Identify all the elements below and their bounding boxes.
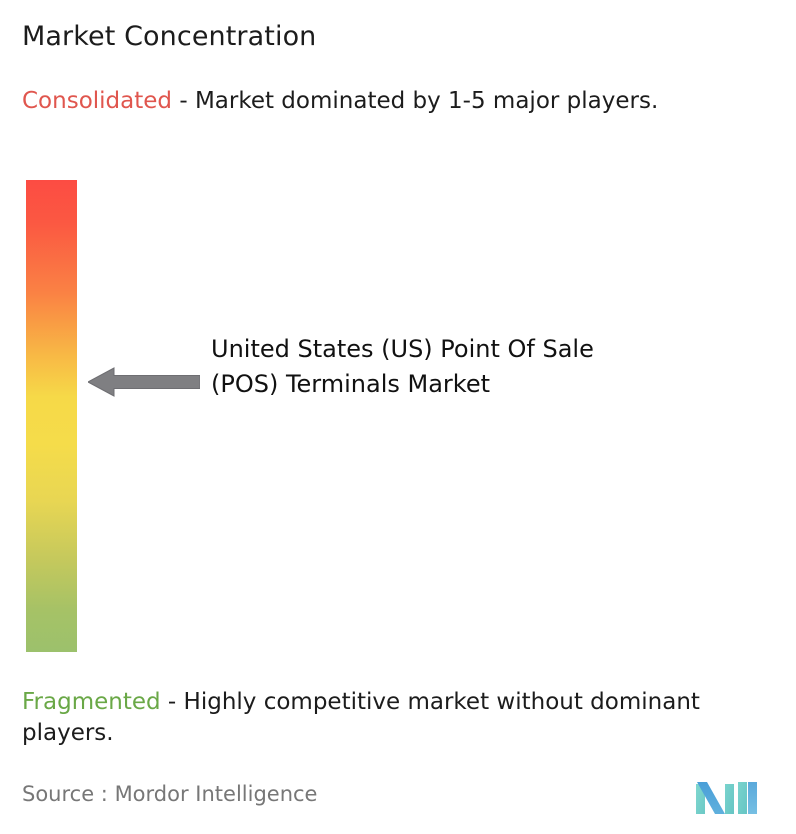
legend-fragmented: Fragmented - Highly competitive market w… bbox=[22, 687, 782, 749]
legend-fragmented-separator: - bbox=[161, 689, 184, 715]
source-label: Source : bbox=[22, 782, 115, 806]
legend-consolidated-separator: - bbox=[172, 88, 195, 114]
arrow-left-icon bbox=[88, 366, 200, 398]
footer: Source : Mordor Intelligence bbox=[0, 780, 796, 834]
source-name: Mordor Intelligence bbox=[115, 782, 318, 806]
concentration-gradient-bar bbox=[26, 180, 77, 652]
market-annotation-label: United States (US) Point Of Sale (POS) T… bbox=[211, 332, 611, 402]
mordor-intelligence-logo bbox=[694, 776, 772, 820]
legend-fragmented-keyword: Fragmented bbox=[22, 689, 161, 715]
page-title: Market Concentration bbox=[22, 20, 316, 54]
legend-consolidated: Consolidated - Market dominated by 1-5 m… bbox=[22, 86, 772, 117]
legend-consolidated-description: Market dominated by 1-5 major players. bbox=[195, 88, 658, 114]
source-attribution: Source : Mordor Intelligence bbox=[22, 780, 317, 808]
legend-consolidated-keyword: Consolidated bbox=[22, 88, 172, 114]
